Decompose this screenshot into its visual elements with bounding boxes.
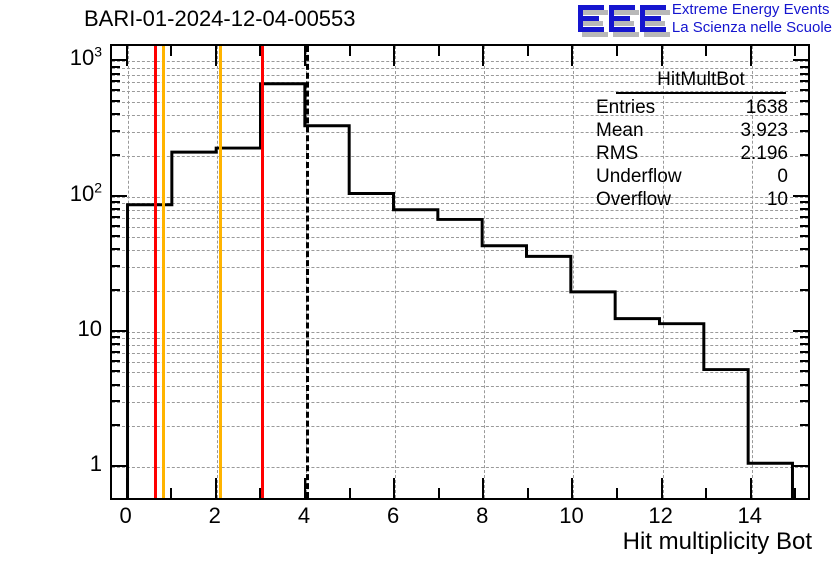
marker-line-mean-dashed	[306, 46, 309, 498]
eee-logo-text: Extreme Energy Events La Scienza nelle S…	[672, 1, 832, 37]
y-axis-label: 10	[20, 318, 102, 340]
y-axis-tick	[800, 201, 810, 203]
chart-canvas: BARI-01-2024-12-04-00553 Extreme Energy …	[0, 0, 836, 572]
y-axis-tick	[110, 59, 127, 61]
stats-value: 2.196	[740, 142, 788, 165]
x-axis-tick	[304, 478, 306, 500]
y-axis-tick	[110, 384, 120, 386]
eee-logo-line1: Extreme Energy Events	[672, 1, 832, 19]
x-axis-tick	[215, 478, 217, 500]
y-axis-tick	[800, 351, 810, 353]
y-axis-tick	[110, 154, 120, 156]
stats-row: RMS2.196	[586, 142, 792, 165]
y-axis-tick	[110, 343, 120, 345]
y-axis-tick	[800, 343, 810, 345]
marker-line-orange-low	[162, 46, 165, 498]
y-axis-label: 103	[20, 47, 102, 69]
y-axis-tick	[110, 248, 120, 250]
stats-row: Entries1638	[586, 96, 792, 119]
x-axis-title: Hit multiplicity Bot	[623, 528, 812, 556]
x-axis-tick	[304, 44, 306, 66]
y-axis-tick	[110, 370, 120, 372]
x-axis-tick	[527, 44, 529, 56]
y-axis-tick	[800, 154, 810, 156]
page-title: BARI-01-2024-12-04-00553	[84, 6, 356, 32]
y-axis-tick	[110, 289, 120, 291]
x-axis-tick	[170, 488, 172, 500]
stats-row: Mean3.923	[586, 119, 792, 142]
marker-line-orange-high	[219, 46, 222, 498]
y-axis-tick	[800, 66, 810, 68]
y-axis-tick	[793, 195, 810, 197]
x-axis-tick	[170, 44, 172, 56]
x-axis-label: 10	[551, 504, 591, 528]
marker-line-red-low	[154, 46, 157, 498]
y-axis-tick	[110, 216, 120, 218]
stats-key: RMS	[596, 142, 638, 165]
y-axis-tick	[110, 400, 120, 402]
y-axis-tick	[793, 330, 810, 332]
y-axis-tick	[110, 100, 120, 102]
y-axis-tick	[110, 73, 120, 75]
stats-row: Overflow10	[586, 188, 792, 211]
x-axis-tick	[393, 478, 395, 500]
x-axis-label: 14	[730, 504, 770, 528]
stats-rows: Entries1638Mean3.923RMS2.196Underflow0Ov…	[586, 96, 792, 211]
x-axis-tick	[705, 44, 707, 56]
x-axis-tick	[215, 44, 217, 66]
y-axis-tick	[110, 201, 120, 203]
y-axis-tick	[793, 59, 810, 61]
y-axis-tick	[800, 370, 810, 372]
y-axis-tick	[800, 225, 810, 227]
y-axis-label: 102	[20, 183, 102, 205]
x-axis-tick	[438, 488, 440, 500]
stats-value: 3.923	[740, 119, 788, 142]
stats-value: 10	[767, 188, 788, 211]
y-axis-tick	[800, 424, 810, 426]
y-axis-tick	[800, 113, 810, 115]
y-axis-tick	[800, 336, 810, 338]
eee-logo-mark	[578, 4, 666, 34]
y-axis-tick	[800, 384, 810, 386]
y-axis-tick	[110, 330, 127, 332]
y-axis-tick	[110, 235, 120, 237]
x-axis-tick	[571, 44, 573, 66]
x-axis-tick	[794, 44, 796, 56]
stats-box: HitMultBot Entries1638Mean3.923RMS2.196U…	[586, 68, 792, 211]
y-axis-tick	[110, 89, 120, 91]
x-axis-tick	[126, 478, 128, 500]
x-axis-tick	[661, 44, 663, 66]
x-axis-tick	[794, 488, 796, 500]
y-axis-tick	[800, 216, 810, 218]
stats-row: Underflow0	[586, 165, 792, 188]
y-axis-tick	[110, 80, 120, 82]
stats-key: Entries	[596, 96, 655, 119]
x-axis-label: 8	[462, 504, 502, 528]
x-axis-tick	[750, 44, 752, 66]
y-axis-tick	[110, 208, 120, 210]
y-axis-tick	[800, 235, 810, 237]
y-axis-tick	[110, 465, 127, 467]
eee-logo: Extreme Energy Events La Scienza nelle S…	[578, 0, 832, 38]
x-axis-label: 12	[641, 504, 681, 528]
y-axis-tick	[110, 225, 120, 227]
y-axis-tick	[800, 100, 810, 102]
stats-key: Underflow	[596, 165, 682, 188]
x-axis-tick	[259, 488, 261, 500]
stats-title: HitMultBot	[616, 68, 786, 94]
x-axis-tick	[349, 44, 351, 56]
x-axis-tick	[571, 478, 573, 500]
stats-value: 1638	[746, 96, 788, 119]
y-axis-tick	[800, 73, 810, 75]
y-axis-tick	[800, 265, 810, 267]
x-axis-tick	[705, 488, 707, 500]
x-axis-tick	[126, 44, 128, 66]
y-axis-tick	[800, 289, 810, 291]
y-axis-tick	[793, 465, 810, 467]
x-axis-tick	[482, 478, 484, 500]
x-axis-label: 4	[284, 504, 324, 528]
x-axis-label: 6	[373, 504, 413, 528]
stats-key: Mean	[596, 119, 644, 142]
eee-logo-line2: La Scienza nelle Scuole	[672, 19, 832, 37]
x-axis-tick	[393, 44, 395, 66]
y-axis-tick	[110, 360, 120, 362]
eee-letter-icon	[640, 4, 666, 34]
x-axis-label: 0	[106, 504, 146, 528]
y-axis-tick	[800, 208, 810, 210]
y-axis-label: 1	[20, 453, 102, 475]
x-axis-tick	[259, 44, 261, 56]
stats-key: Overflow	[596, 188, 671, 211]
x-axis-tick	[527, 488, 529, 500]
x-axis-tick	[616, 44, 618, 56]
x-axis-tick	[349, 488, 351, 500]
x-axis-tick	[750, 478, 752, 500]
x-axis-tick	[616, 488, 618, 500]
x-axis-tick	[661, 478, 663, 500]
y-axis-tick	[110, 113, 120, 115]
y-axis-tick	[110, 195, 127, 197]
marker-line-red-high	[261, 46, 264, 498]
eee-letter-icon	[578, 4, 604, 34]
y-axis-tick	[800, 80, 810, 82]
eee-letter-icon	[609, 4, 635, 34]
x-axis-tick	[438, 44, 440, 56]
y-axis-tick	[800, 248, 810, 250]
y-axis-tick	[110, 424, 120, 426]
y-axis-tick	[800, 400, 810, 402]
y-axis-tick	[800, 130, 810, 132]
x-axis-label: 2	[195, 504, 235, 528]
stats-value: 0	[777, 165, 788, 188]
y-axis-tick	[800, 89, 810, 91]
y-axis-tick	[110, 336, 120, 338]
y-axis-tick	[800, 360, 810, 362]
y-axis-tick	[110, 351, 120, 353]
y-axis-tick	[110, 66, 120, 68]
x-axis-tick	[482, 44, 484, 66]
y-axis-tick	[110, 265, 120, 267]
y-axis-tick	[110, 130, 120, 132]
